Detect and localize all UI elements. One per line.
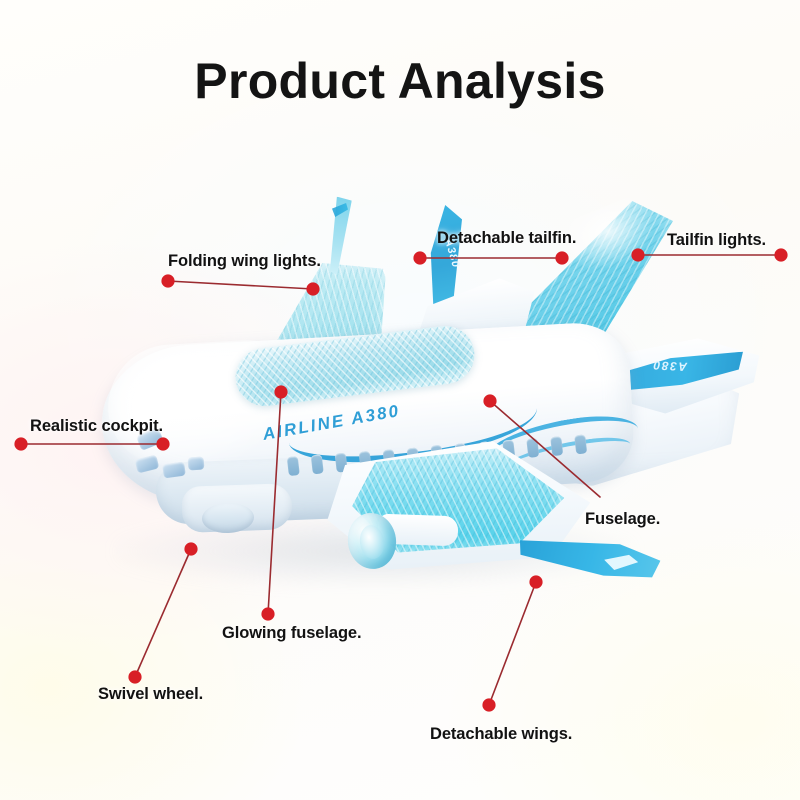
- page-title: Product Analysis: [0, 52, 800, 110]
- cockpit-window: [188, 456, 205, 470]
- callout-label-tailfin-lights: Tailfin lights.: [667, 231, 766, 250]
- callout-dot-detachable-wings: [482, 698, 495, 711]
- callout-dot-tailfin-lights: [774, 248, 787, 261]
- callout-dot-realistic-cockpit: [14, 437, 27, 450]
- passenger-window: [287, 456, 300, 476]
- callout-label-realistic-cockpit: Realistic cockpit.: [30, 417, 163, 436]
- callout-label-detachable-wings: Detachable wings.: [430, 725, 572, 744]
- callout-label-swivel-wheel: Swivel wheel.: [98, 685, 203, 704]
- passenger-window: [550, 436, 563, 456]
- passenger-window: [574, 434, 587, 454]
- passenger-window: [311, 454, 324, 474]
- callout-label-folding-wing-lights: Folding wing lights.: [168, 252, 321, 271]
- callout-label-detachable-tailfin: Detachable tailfin.: [437, 229, 576, 248]
- stabilizer-decal-text: A380: [652, 358, 688, 374]
- callout-label-fuselage: Fuselage.: [585, 510, 660, 529]
- passenger-window: [526, 438, 539, 458]
- airplane-toy-product: A380 A380 AIRLINE A380: [60, 185, 750, 615]
- product-analysis-image: Product Analysis A380 A380 AIRLINE: [0, 0, 800, 800]
- callout-dot-swivel-wheel: [128, 670, 141, 683]
- callout-label-glowing-fuselage: Glowing fuselage.: [222, 624, 362, 643]
